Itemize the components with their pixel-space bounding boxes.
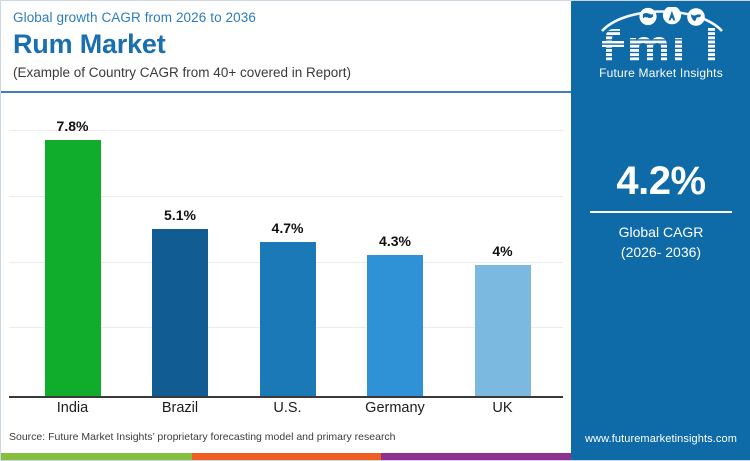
bar-value-label: 7.8% [57, 118, 89, 134]
header-kicker: Global growth CAGR from 2026 to 2036 [13, 9, 571, 26]
global-cagr-stat: 4.2% Global CAGR (2026- 2036) [571, 159, 750, 262]
source-note: Source: Future Market Insights’ propriet… [9, 431, 396, 443]
x-label-india: India [19, 400, 127, 416]
bar-germany[interactable]: 4.3% [367, 255, 423, 396]
bar-value-label: 4% [492, 243, 512, 259]
bar-india[interactable]: 7.8% [45, 140, 101, 396]
bar-us[interactable]: 4.7% [260, 242, 316, 396]
bar-value-label: 5.1% [164, 207, 196, 223]
logo-letter-m [630, 37, 667, 61]
x-axis-labels: IndiaBrazilU.S.GermanyUK [1, 400, 571, 426]
header: Global growth CAGR from 2026 to 2036 Rum… [1, 1, 571, 92]
infographic-page: Global growth CAGR from 2026 to 2036 Rum… [0, 0, 750, 461]
bar-chart-plot: 7.8%5.1%4.7%4.3%4% [1, 93, 571, 398]
x-axis-line [9, 396, 563, 398]
header-subtitle: (Example of Country CAGR from 40+ covere… [13, 64, 571, 81]
stat-value: 4.2% [571, 159, 750, 203]
logo-letter-i [675, 38, 682, 61]
x-label-uk: UK [449, 400, 557, 416]
stripe-segment-orange [192, 453, 381, 460]
bar-uk[interactable]: 4% [475, 265, 531, 396]
stat-period: (2026- 2036) [571, 242, 750, 262]
fmi-logo[interactable]: Future Market Insights [571, 7, 750, 89]
page-title: Rum Market [13, 28, 571, 61]
x-label-brazil: Brazil [126, 400, 234, 416]
chart-panel: Global growth CAGR from 2026 to 2036 Rum… [1, 1, 571, 460]
bar-brazil[interactable]: 5.1% [152, 229, 208, 396]
logo-letter-i-tall [708, 27, 715, 61]
stat-divider [590, 211, 732, 213]
bar-value-label: 4.3% [379, 233, 411, 249]
fmi-logo-wordmark: Future Market Insights [571, 66, 750, 80]
stripe-segment-green [1, 453, 192, 460]
brand-panel: Future Market Insights 4.2% Global CAGR … [571, 1, 750, 460]
stripe-segment-purple [381, 453, 571, 460]
logo-letter-f [602, 29, 624, 61]
x-label-germany: Germany [341, 400, 449, 416]
fmi-logo-svg [586, 7, 736, 65]
gridline-3 [9, 130, 563, 131]
website-url[interactable]: www.futuremarketinsights.com [571, 433, 750, 445]
fmi-logo-mark [586, 7, 736, 65]
x-label-us: U.S. [234, 400, 342, 416]
bar-value-label: 4.7% [272, 220, 304, 236]
stat-label: Global CAGR [571, 222, 750, 242]
